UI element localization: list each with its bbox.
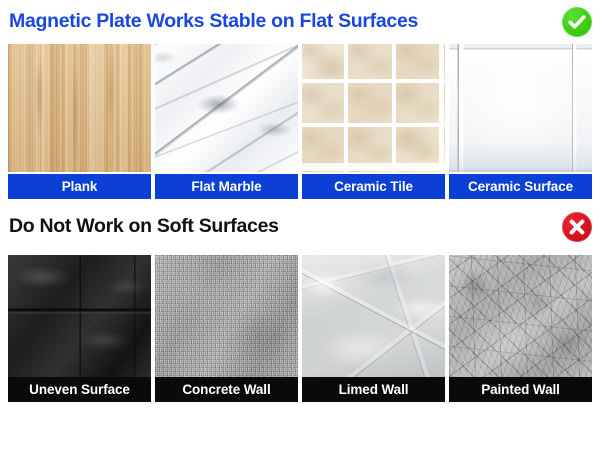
tile-ceramic-tile: Ceramic Tile <box>302 44 445 199</box>
tile-label-ceramic-surface: Ceramic Surface <box>449 174 592 199</box>
white-marble-texture <box>155 44 298 172</box>
dark-slate-stone-texture <box>8 255 151 377</box>
tile-label-concrete-wall: Concrete Wall <box>155 377 298 402</box>
grey-concrete-grain-texture <box>155 255 298 377</box>
tile-label-uneven-surface: Uneven Surface <box>8 377 151 402</box>
pale-limed-plaster-texture <box>302 255 445 377</box>
tile-label-flat-marble: Flat Marble <box>155 174 298 199</box>
section-header-works: Magnetic Plate Works Stable on Flat Surf… <box>0 0 600 44</box>
check-circle-icon <box>562 7 592 37</box>
tile-plank: Plank <box>8 44 151 199</box>
tile-label-limed-wall: Limed Wall <box>302 377 445 402</box>
tile-ceramic-surface: Ceramic Surface <box>449 44 592 199</box>
tile-label-painted-wall: Painted Wall <box>449 377 592 402</box>
painted-stucco-crack-texture <box>449 255 592 377</box>
tile-painted-wall: Painted Wall <box>449 255 592 402</box>
section-title-works: Magnetic Plate Works Stable on Flat Surf… <box>9 12 418 32</box>
tile-label-ceramic-tile: Ceramic Tile <box>302 174 445 199</box>
section-title-not-works: Do Not Work on Soft Surfaces <box>9 217 279 237</box>
tile-uneven-surface: Uneven Surface <box>8 255 151 402</box>
wood-plank-texture <box>8 44 151 172</box>
section-header-not-works: Do Not Work on Soft Surfaces <box>0 199 600 255</box>
beige-ceramic-tile-texture <box>302 44 445 172</box>
tile-flat-marble: Flat Marble <box>155 44 298 199</box>
tile-concrete-wall: Concrete Wall <box>155 255 298 402</box>
tile-label-plank: Plank <box>8 174 151 199</box>
supported-surfaces-row: Plank Flat Marble Ceramic Tile Ceramic S… <box>0 44 600 199</box>
surface-compatibility-infographic: Magnetic Plate Works Stable on Flat Surf… <box>0 0 600 450</box>
tile-limed-wall: Limed Wall <box>302 255 445 402</box>
white-ceramic-panel-texture <box>449 44 592 172</box>
unsupported-surfaces-row: Uneven Surface Concrete Wall Limed Wall … <box>0 255 600 402</box>
cross-circle-icon <box>562 212 592 242</box>
